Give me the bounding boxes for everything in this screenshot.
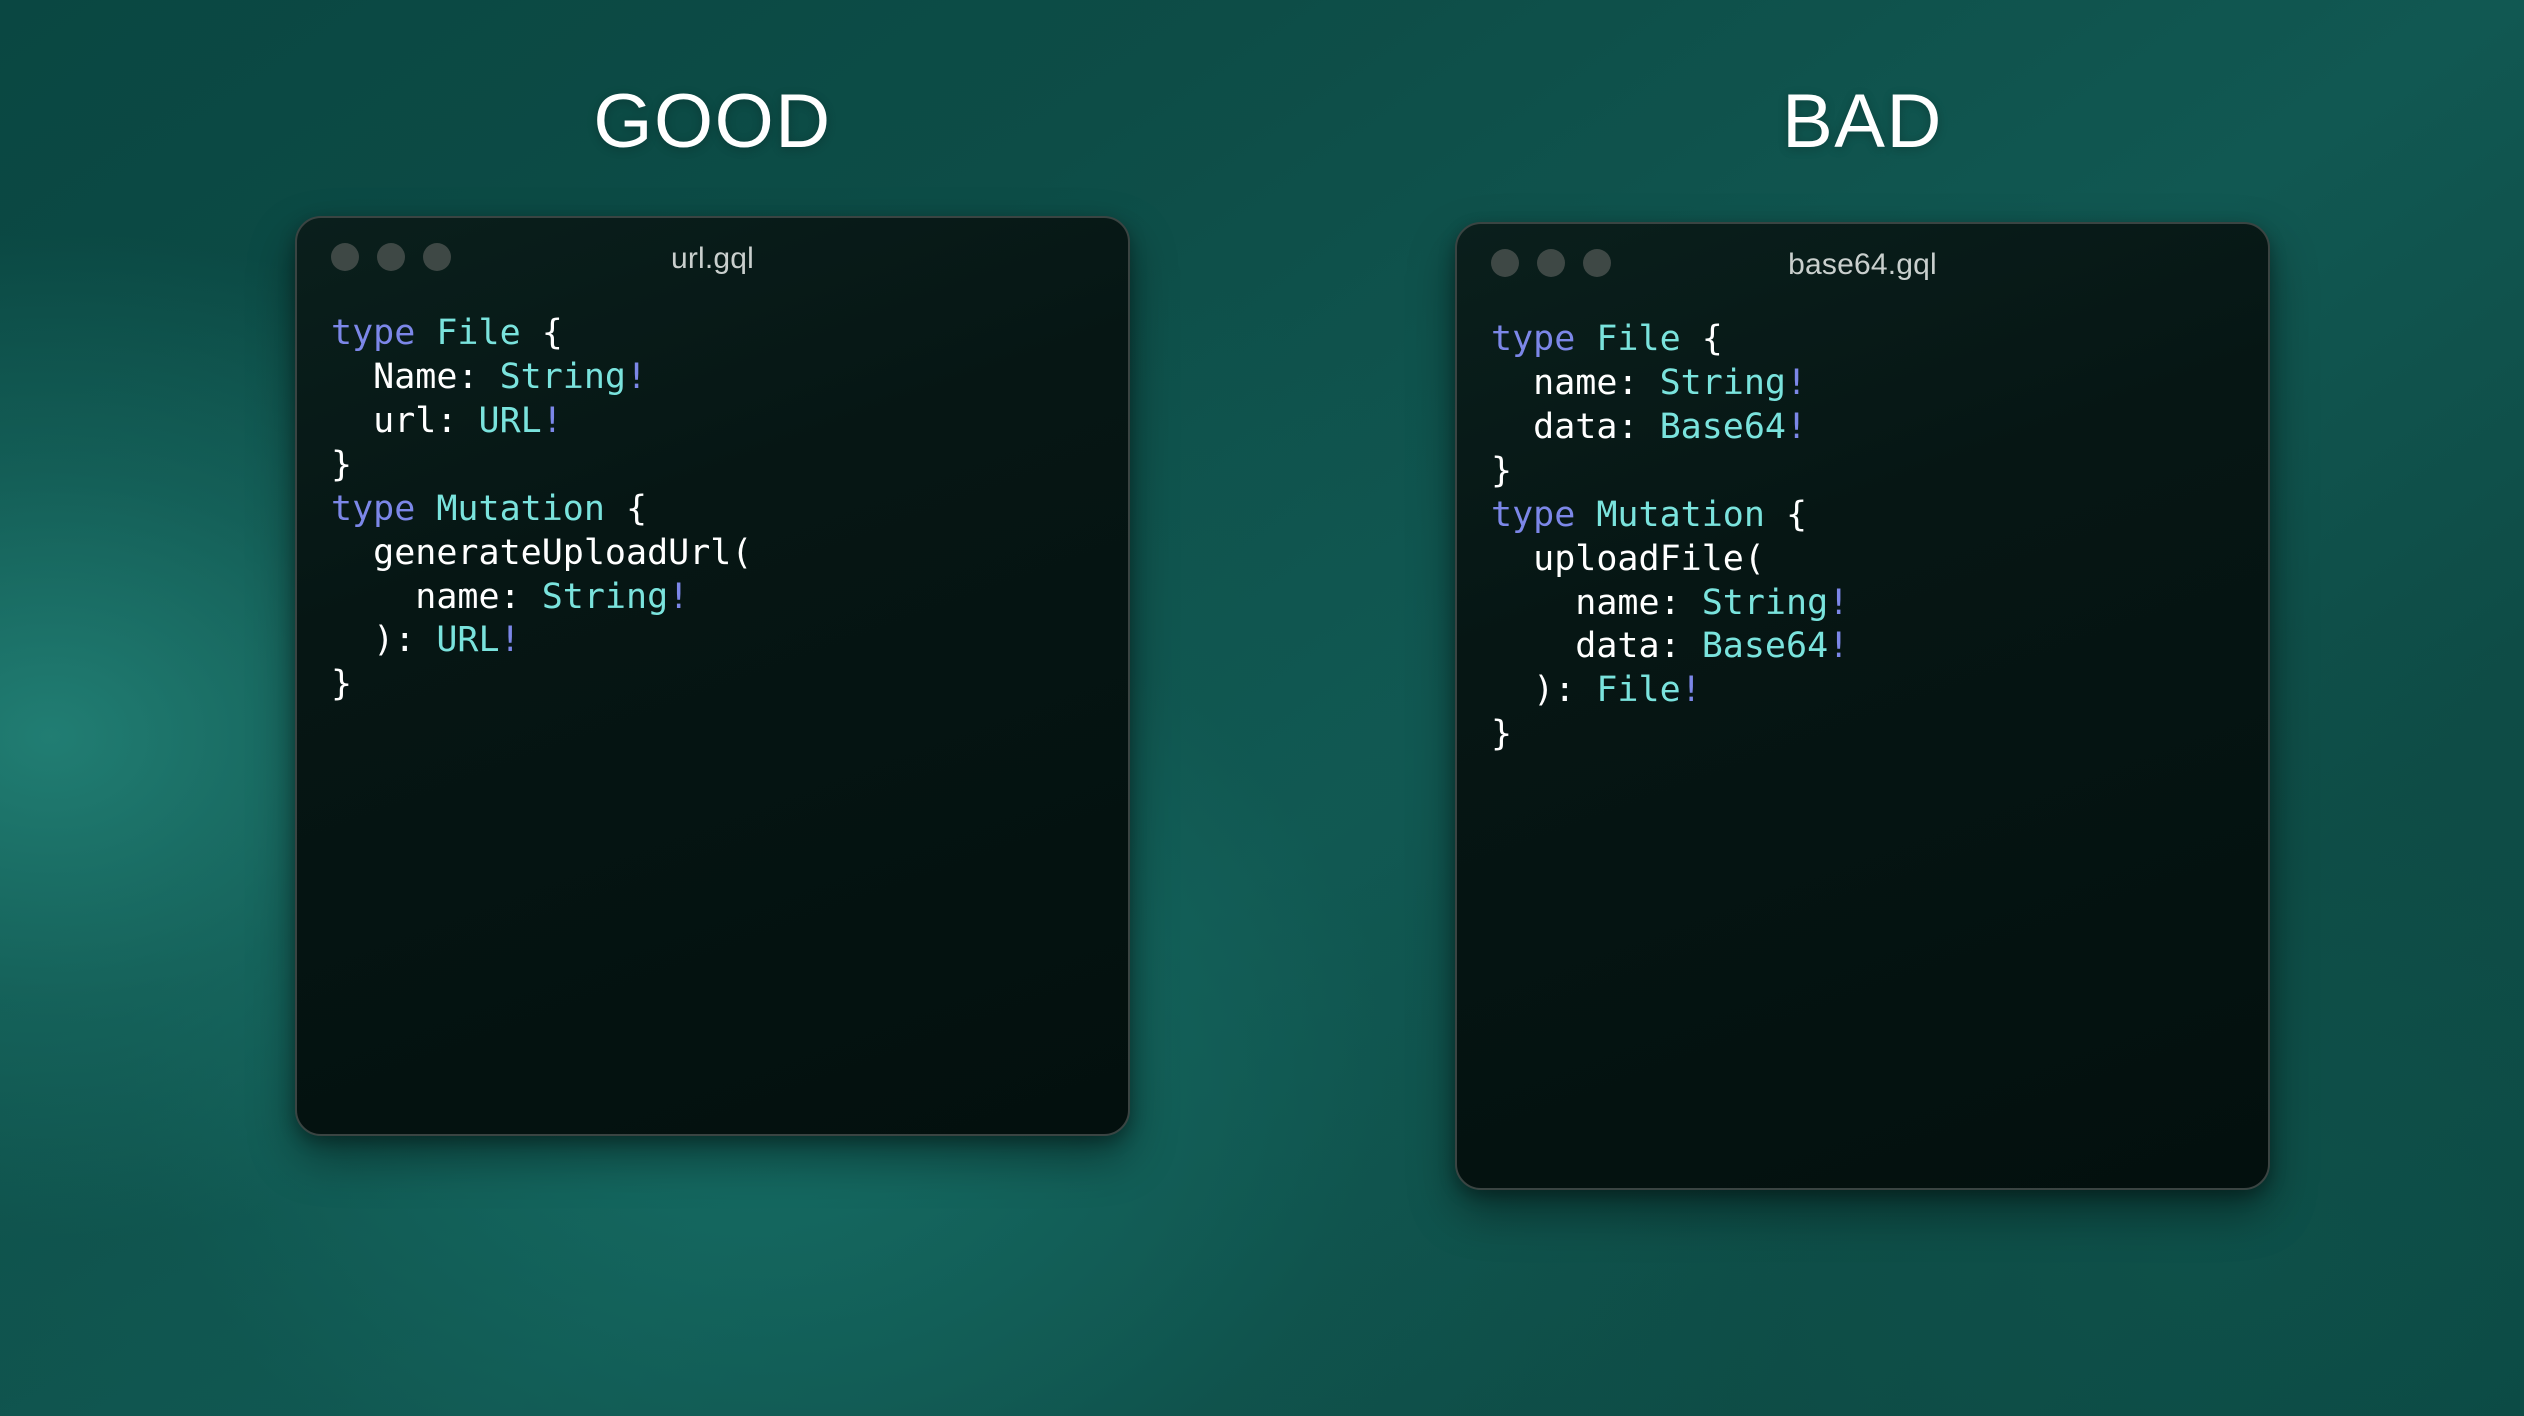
- code-token-type: Mutation: [1596, 495, 1765, 535]
- code-token-type: Base64: [1660, 407, 1786, 447]
- code-token-bang: !: [1786, 407, 1807, 447]
- code-token-type: File: [1596, 670, 1680, 710]
- code-token-pun: name:: [331, 577, 542, 617]
- code-token-pun: {: [605, 489, 647, 529]
- code-window-good: url.gql type File { Name: String! url: U…: [295, 216, 1130, 1136]
- code-window-titlebar-good: url.gql: [297, 218, 1128, 296]
- code-token-pun: {: [1765, 495, 1807, 535]
- code-token-bang: !: [668, 577, 689, 617]
- code-token-pun: }: [331, 664, 352, 704]
- code-token-type: String: [500, 357, 626, 397]
- comparison-stage: GOOD url.gql type File { Name: String! u…: [0, 0, 2524, 1416]
- code-token-pun: data:: [1491, 407, 1660, 447]
- traffic-light-dot-maximize-icon[interactable]: [423, 243, 451, 271]
- code-block-bad: type File { name: String! data: Base64! …: [1491, 318, 2268, 757]
- code-token-kw: type: [1491, 319, 1596, 359]
- code-token-pun: }: [1491, 714, 1512, 754]
- code-window-bad: base64.gql type File { name: String! dat…: [1455, 222, 2270, 1190]
- panel-heading-good: GOOD: [295, 84, 1130, 160]
- code-token-pun: ):: [331, 620, 436, 660]
- code-token-type: Mutation: [436, 489, 605, 529]
- code-token-kw: type: [331, 489, 436, 529]
- code-token-pun: ):: [1491, 670, 1596, 710]
- code-token-type: String: [1702, 583, 1828, 623]
- window-controls-bad: [1491, 249, 1611, 277]
- code-token-pun: name:: [1491, 363, 1660, 403]
- code-token-type: URL: [479, 401, 542, 441]
- code-token-type: String: [1660, 363, 1786, 403]
- code-token-pun: url:: [331, 401, 479, 441]
- code-token-pun: {: [1681, 319, 1723, 359]
- code-token-kw: type: [331, 313, 436, 353]
- code-token-type: File: [436, 313, 520, 353]
- code-token-pun: }: [1491, 451, 1512, 491]
- traffic-light-dot-close-icon[interactable]: [331, 243, 359, 271]
- panel-heading-bad: BAD: [1455, 84, 2270, 160]
- code-token-pun: data:: [1491, 626, 1702, 666]
- code-block-good: type File { Name: String! url: URL! } ty…: [331, 312, 1128, 707]
- code-token-bang: !: [626, 357, 647, 397]
- code-token-type: URL: [436, 620, 499, 660]
- code-token-bang: !: [1681, 670, 1702, 710]
- code-token-bang: !: [542, 401, 563, 441]
- code-token-bang: !: [1828, 626, 1849, 666]
- code-token-pun: }: [331, 445, 352, 485]
- code-token-pun: uploadFile(: [1491, 539, 1765, 579]
- code-token-type: String: [542, 577, 668, 617]
- code-token-type: File: [1596, 319, 1680, 359]
- code-token-bang: !: [500, 620, 521, 660]
- traffic-light-dot-minimize-icon[interactable]: [1537, 249, 1565, 277]
- code-token-pun: {: [521, 313, 563, 353]
- code-token-bang: !: [1786, 363, 1807, 403]
- traffic-light-dot-minimize-icon[interactable]: [377, 243, 405, 271]
- traffic-light-dot-maximize-icon[interactable]: [1583, 249, 1611, 277]
- code-token-kw: type: [1491, 495, 1596, 535]
- traffic-light-dot-close-icon[interactable]: [1491, 249, 1519, 277]
- code-token-pun: name:: [1491, 583, 1702, 623]
- code-window-titlebar-bad: base64.gql: [1457, 224, 2268, 302]
- code-token-pun: Name:: [331, 357, 500, 397]
- window-controls-good: [331, 243, 451, 271]
- code-token-type: Base64: [1702, 626, 1828, 666]
- code-token-bang: !: [1828, 583, 1849, 623]
- code-token-pun: generateUploadUrl(: [331, 533, 752, 573]
